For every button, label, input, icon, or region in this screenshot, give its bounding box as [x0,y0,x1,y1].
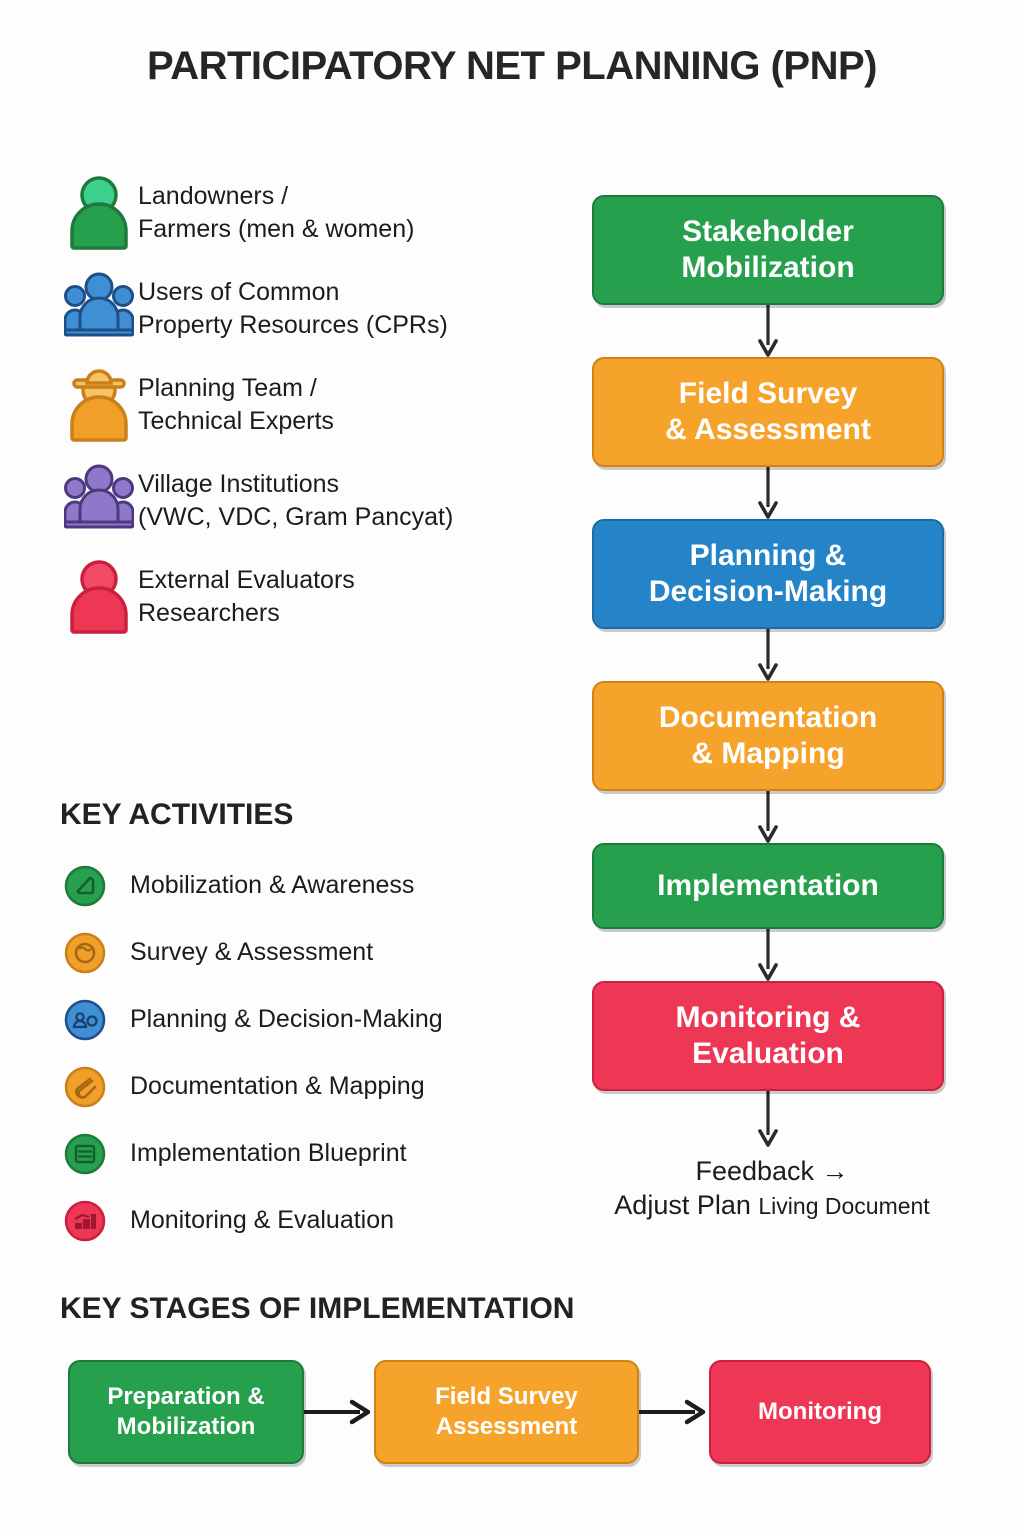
flow-arrow-down-icon [592,791,944,843]
flow-step-stakeholder-mobilization[interactable]: Stakeholder Mobilization [592,195,944,305]
paperclip-icon [64,1066,122,1108]
list-item: Monitoring & Evaluation [64,1187,604,1254]
list-item-label: Documentation & Mapping [122,1074,425,1099]
infographic-page: PARTICIPATORY NET PLANNING (PNP) Landown… [0,0,1024,1536]
list-item: External Evaluators Researchers [60,556,580,652]
list-item-label: Landowners / Farmers (men & women) [138,172,414,246]
list-item-label: Survey & Assessment [122,940,373,965]
flow-step-implementation[interactable]: Implementation [592,843,944,929]
list-item: Landowners / Farmers (men & women) [60,172,580,268]
feedback-living-document: Living Document [758,1193,929,1219]
list-item: Planning Team / Technical Experts [60,364,580,460]
list-item-label: Planning & Decision-Making [122,1007,443,1032]
flow-step-documentation-mapping[interactable]: Documentation & Mapping [592,681,944,791]
stage-field-survey-assessment[interactable]: Field Survey Assessment [374,1360,639,1464]
group-people-icon [60,460,138,530]
key-activities-heading: KEY ACTIVITIES [60,798,293,832]
stage-arrow-right-icon [639,1397,709,1427]
single-person-icon [60,556,138,634]
flow-step-planning-decision-making[interactable]: Planning & Decision-Making [592,519,944,629]
stakeholder-legend: Landowners / Farmers (men & women) Users… [60,172,580,652]
person-with-hat-icon [60,364,138,442]
list-item-label: External Evaluators Researchers [138,556,355,630]
list-item: Survey & Assessment [64,919,604,986]
list-item: Mobilization & Awareness [64,852,604,919]
flow-step-field-survey-assessment[interactable]: Field Survey & Assessment [592,357,944,467]
feedback-line-1: Feedback → [592,1155,952,1189]
list-item-label: Monitoring & Evaluation [122,1208,394,1233]
list-item: Village Institutions (VWC, VDC, Gram Pan… [60,460,580,556]
list-item-label: Planning Team / Technical Experts [138,364,334,438]
process-flow: Stakeholder Mobilization Field Survey & … [592,195,944,1147]
single-person-icon [60,172,138,250]
list-item-label: Village Institutions (VWC, VDC, Gram Pan… [138,460,453,534]
feedback-adjust-plan: Adjust Plan [614,1190,758,1220]
flow-arrow-down-icon [592,629,944,681]
list-item-label: Implementation Blueprint [122,1141,407,1166]
list-item: Implementation Blueprint [64,1120,604,1187]
list-item-label: Users of Common Property Resources (CPRs… [138,268,448,342]
bar-chart-icon [64,1200,122,1242]
flow-arrow-down-icon [592,1091,944,1147]
list-item: Documentation & Mapping [64,1053,604,1120]
list-item: Users of Common Property Resources (CPRs… [60,268,580,364]
group-people-icon [60,268,138,338]
flow-step-monitoring-evaluation[interactable]: Monitoring & Evaluation [592,981,944,1091]
flow-arrow-down-icon [592,467,944,519]
stage-monitoring[interactable]: Monitoring [709,1360,931,1464]
key-stages-heading: KEY STAGES OF IMPLEMENTATION [60,1292,574,1326]
page-title: PARTICIPATORY NET PLANNING (PNP) [0,44,1024,89]
flow-arrow-down-icon [592,929,944,981]
feedback-line-2: Adjust Plan Living Document [592,1189,952,1223]
key-activities-list: Mobilization & Awareness Survey & Assess… [64,852,604,1254]
magnifier-ring-icon [64,932,122,974]
feedback-note: Feedback → Adjust Plan Living Document [592,1155,952,1223]
list-item: Planning & Decision-Making [64,986,604,1053]
list-item-label: Mobilization & Awareness [122,873,414,898]
people-gear-icon [64,999,122,1041]
megaphone-icon [64,865,122,907]
stage-arrow-right-icon [304,1397,374,1427]
key-stages-row: Preparation & Mobilization Field Survey … [68,1360,931,1464]
stage-preparation-mobilization[interactable]: Preparation & Mobilization [68,1360,304,1464]
document-lines-icon [64,1133,122,1175]
flow-arrow-down-icon [592,305,944,357]
